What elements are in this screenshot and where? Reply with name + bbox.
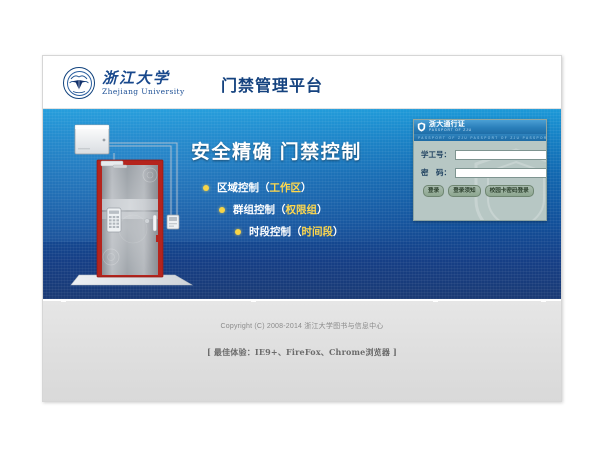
hero-feature-tail: ）	[317, 202, 328, 217]
access-control-door-illustration	[57, 117, 207, 295]
copyright-text: Copyright (C) 2008-2014 浙江大学图书与信息中心	[43, 301, 561, 331]
site-logo[interactable]: 浙江大学 Zhejiang University	[63, 67, 185, 99]
hero-feature-accent: 工作区	[270, 180, 302, 195]
bullet-dot-icon	[219, 207, 225, 213]
login-notice-button[interactable]: 登录须知	[448, 185, 480, 197]
hero-feature-tail: ）	[301, 180, 312, 195]
login-button-group: 登录 登录须知 校园卡密码登录	[421, 185, 539, 197]
shield-icon	[417, 122, 426, 132]
hero-feature-item: 区域控制（工作区）	[191, 180, 431, 195]
page-title: 门禁管理平台	[221, 72, 323, 96]
login-ribbon-text: PASSPORT OF ZJU PASSPORT OF ZJU PASSPORT…	[414, 136, 546, 140]
browser-support-note: [ 最佳体验：IE9+、FireFox、Chrome浏览器 ]	[43, 347, 561, 358]
hero-feature-accent: 权限组	[286, 202, 318, 217]
password-label: 密 码：	[421, 167, 455, 178]
footer-notch-row	[43, 299, 561, 302]
footer-notch	[541, 299, 546, 302]
site-footer: Copyright (C) 2008-2014 浙江大学图书与信息中心 [ 最佳…	[43, 299, 561, 402]
bullet-dot-icon	[203, 185, 209, 191]
hero-headline: 安全精确 门禁控制	[191, 137, 431, 164]
login-field-row: 密 码：	[421, 167, 539, 178]
username-input[interactable]	[455, 150, 547, 160]
hero-banner: 安全精确 门禁控制 区域控制（工作区） 群组控制（权限组） 时段控制（时间段）	[43, 109, 561, 299]
login-button[interactable]: 登录	[423, 185, 444, 197]
hero-feature-label: 区域控制（	[217, 180, 270, 195]
login-panel-subtitle: PASSPORT OF ZJU	[429, 129, 472, 132]
zju-seal-icon	[63, 67, 95, 99]
hero-feature-label: 时段控制（	[249, 224, 302, 239]
login-panel: 浙大通行证 PASSPORT OF ZJU PASSPORT OF ZJU PA…	[413, 119, 547, 221]
logo-text-cn: 浙江大学	[102, 71, 185, 86]
login-panel-ribbon: PASSPORT OF ZJU PASSPORT OF ZJU PASSPORT…	[414, 134, 546, 141]
footer-notch	[251, 299, 256, 302]
login-form: 学工号： 密 码： 登录 登录须知 校园卡密码登录	[414, 141, 546, 203]
hero-feature-label: 群组控制（	[233, 202, 286, 217]
password-input[interactable]	[455, 168, 547, 178]
hero-feature-item: 时段控制（时间段）	[191, 224, 431, 239]
page-card: 浙江大学 Zhejiang University 门禁管理平台	[42, 55, 562, 402]
logo-text-en: Zhejiang University	[102, 88, 185, 96]
username-label: 学工号：	[421, 149, 455, 160]
campus-card-login-button[interactable]: 校园卡密码登录	[485, 185, 534, 197]
login-panel-titlebar: 浙大通行证 PASSPORT OF ZJU	[414, 120, 546, 134]
footer-notch	[433, 299, 438, 302]
hero-feature-tail: ）	[333, 224, 344, 239]
hero-feature-accent: 时间段	[302, 224, 334, 239]
site-header: 浙江大学 Zhejiang University 门禁管理平台	[43, 56, 561, 109]
footer-notch	[61, 299, 66, 302]
hero-copy: 安全精确 门禁控制 区域控制（工作区） 群组控制（权限组） 时段控制（时间段）	[191, 137, 431, 246]
login-panel-title: 浙大通行证	[429, 121, 472, 128]
hero-feature-list: 区域控制（工作区） 群组控制（权限组） 时段控制（时间段）	[191, 180, 431, 239]
login-field-row: 学工号：	[421, 149, 539, 160]
hero-feature-item: 群组控制（权限组）	[191, 202, 431, 217]
bullet-dot-icon	[235, 229, 241, 235]
